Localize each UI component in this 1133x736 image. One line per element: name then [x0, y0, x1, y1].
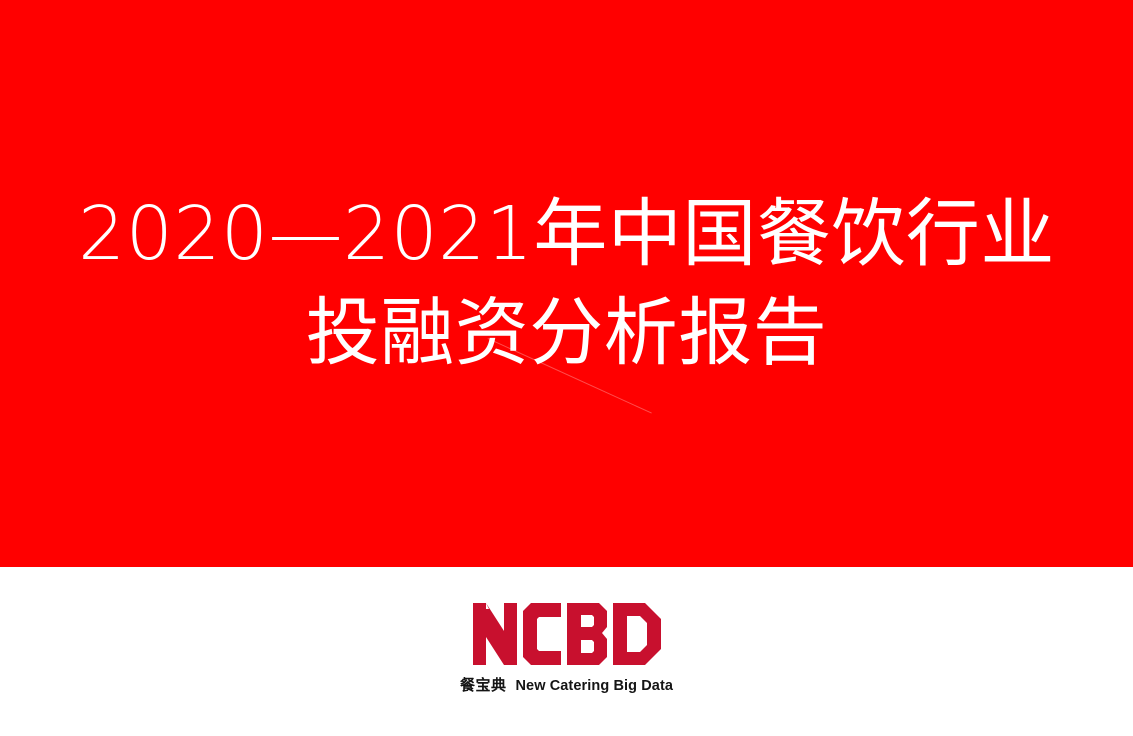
logo-tagline: 餐宝典 New Catering Big Data	[460, 674, 673, 695]
page-title-line-1: 2020—2021年中国餐饮行业	[78, 185, 1055, 283]
slide-cover: 2020—2021年中国餐饮行业 投融资分析报告 餐宝典 New Caterin…	[0, 0, 1133, 736]
logo-tagline-chinese: 餐宝典	[460, 674, 507, 695]
page-title-line-2: 投融资分析报告	[306, 284, 828, 382]
logo-area: 餐宝典 New Catering Big Data	[0, 567, 1133, 736]
logo-tagline-english: New Catering Big Data	[515, 678, 673, 694]
title-block: 2020—2021年中国餐饮行业 投融资分析报告	[0, 0, 1133, 567]
ncbd-wordmark-logo	[473, 603, 661, 665]
